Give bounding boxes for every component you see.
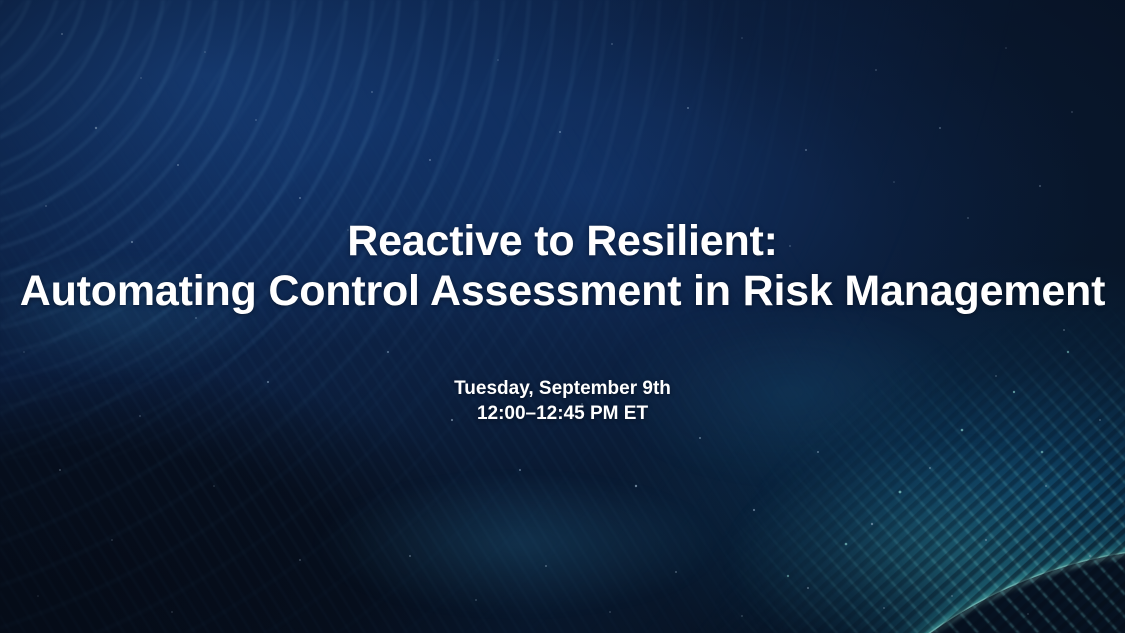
schedule-block: Tuesday, September 9th 12:00–12:45 PM ET bbox=[0, 376, 1125, 426]
webinar-date: Tuesday, September 9th bbox=[0, 376, 1125, 401]
webinar-time: 12:00–12:45 PM ET bbox=[0, 401, 1125, 426]
page-title-line-2: Automating Control Assessment in Risk Ma… bbox=[0, 266, 1125, 316]
slide-content: Reactive to Resilient: Automating Contro… bbox=[0, 0, 1125, 633]
page-title-line-1: Reactive to Resilient: bbox=[0, 216, 1125, 266]
title-block: Reactive to Resilient: Automating Contro… bbox=[0, 216, 1125, 316]
title-slide: Reactive to Resilient: Automating Contro… bbox=[0, 0, 1125, 633]
